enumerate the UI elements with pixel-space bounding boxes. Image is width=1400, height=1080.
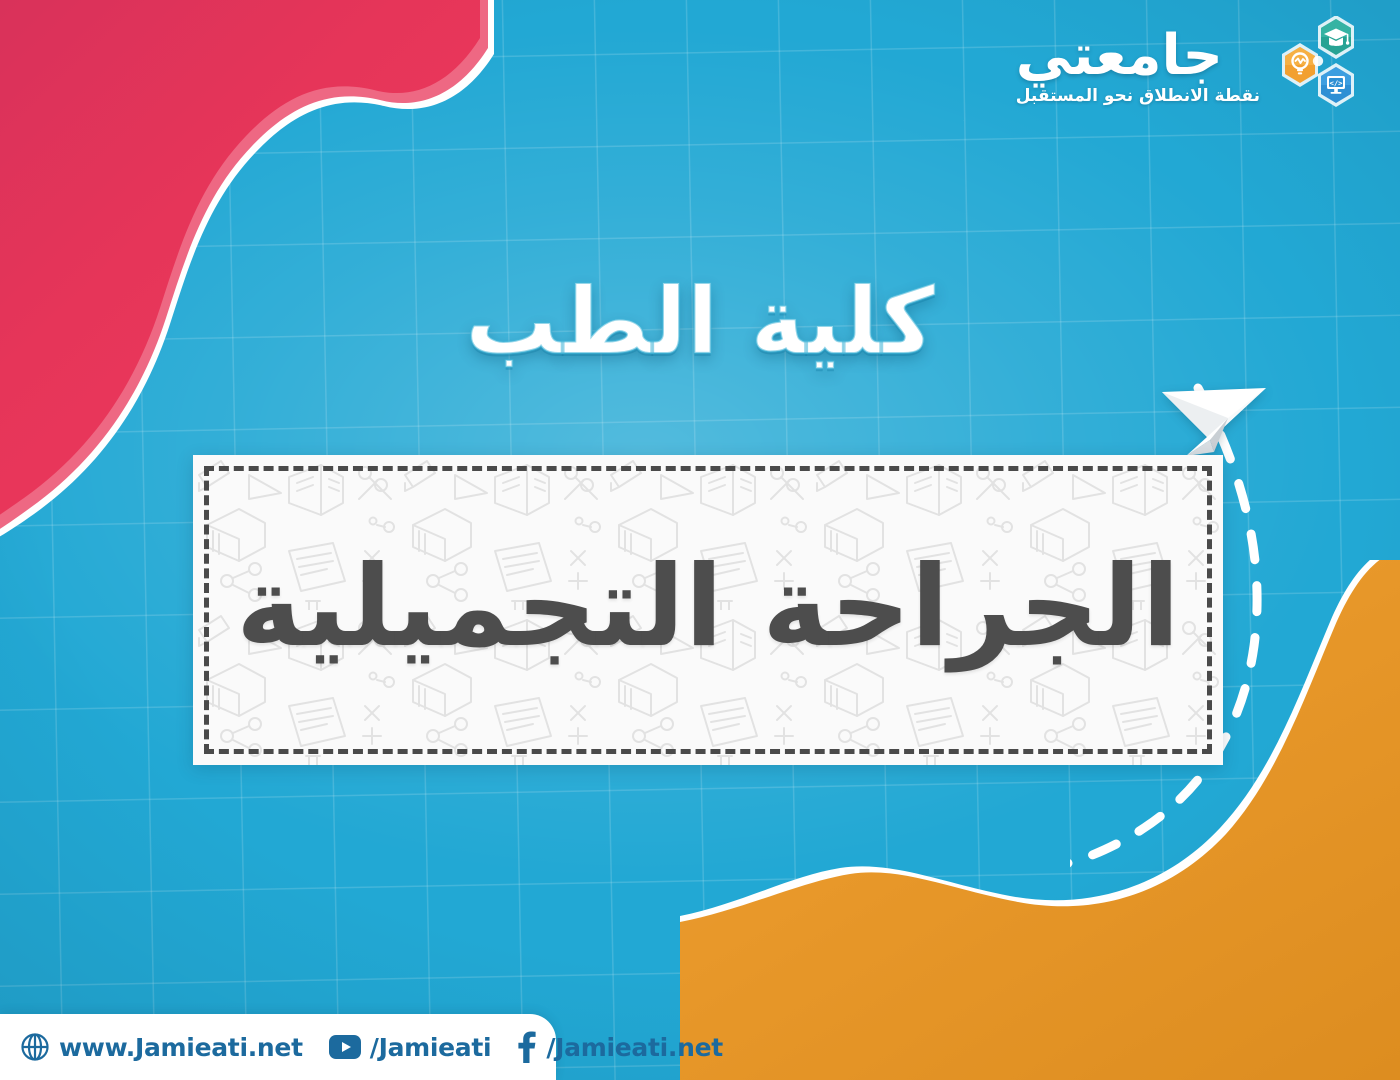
monitor-code-hexagon-icon: </> — [1318, 63, 1354, 107]
footer-youtube-link[interactable]: /Jamieati — [329, 1033, 492, 1062]
youtube-icon — [329, 1035, 361, 1059]
footer-bar: www.Jamieati.net /Jamieati /Jamieati.net — [0, 1014, 556, 1080]
footer-website-link[interactable]: www.Jamieati.net — [20, 1032, 303, 1062]
poster-canvas: </> جامعتي نقطة الانطلاق نحو المستقبل كل… — [0, 0, 1400, 1080]
logo-word: جامعتي — [1016, 28, 1223, 84]
brand-logo[interactable]: </> جامعتي نقطة الانطلاق نحو المستقبل — [1016, 16, 1378, 116]
graduation-cap-hexagon-icon — [1318, 16, 1354, 59]
svg-text:</>: </> — [1330, 79, 1344, 88]
logo-text-block: جامعتي نقطة الانطلاق نحو المستقبل — [1016, 28, 1260, 105]
faculty-headline: كلية الطب — [0, 268, 1400, 375]
logo-hexagon-cluster: </> — [1274, 16, 1378, 116]
footer-website-label: www.Jamieati.net — [59, 1033, 303, 1062]
footer-facebook-link[interactable]: /Jamieati.net — [517, 1031, 723, 1063]
lightbulb-hexagon-icon — [1282, 43, 1318, 87]
footer-youtube-label: /Jamieati — [370, 1033, 492, 1062]
logo-tagline: نقطة الانطلاق نحو المستقبل — [1016, 88, 1260, 105]
subject-title: الجراحة التجميلية — [193, 455, 1223, 765]
footer-facebook-label: /Jamieati.net — [546, 1033, 723, 1062]
globe-icon — [20, 1032, 50, 1062]
facebook-icon — [517, 1031, 537, 1063]
subject-card: الجراحة التجميلية — [193, 455, 1223, 765]
